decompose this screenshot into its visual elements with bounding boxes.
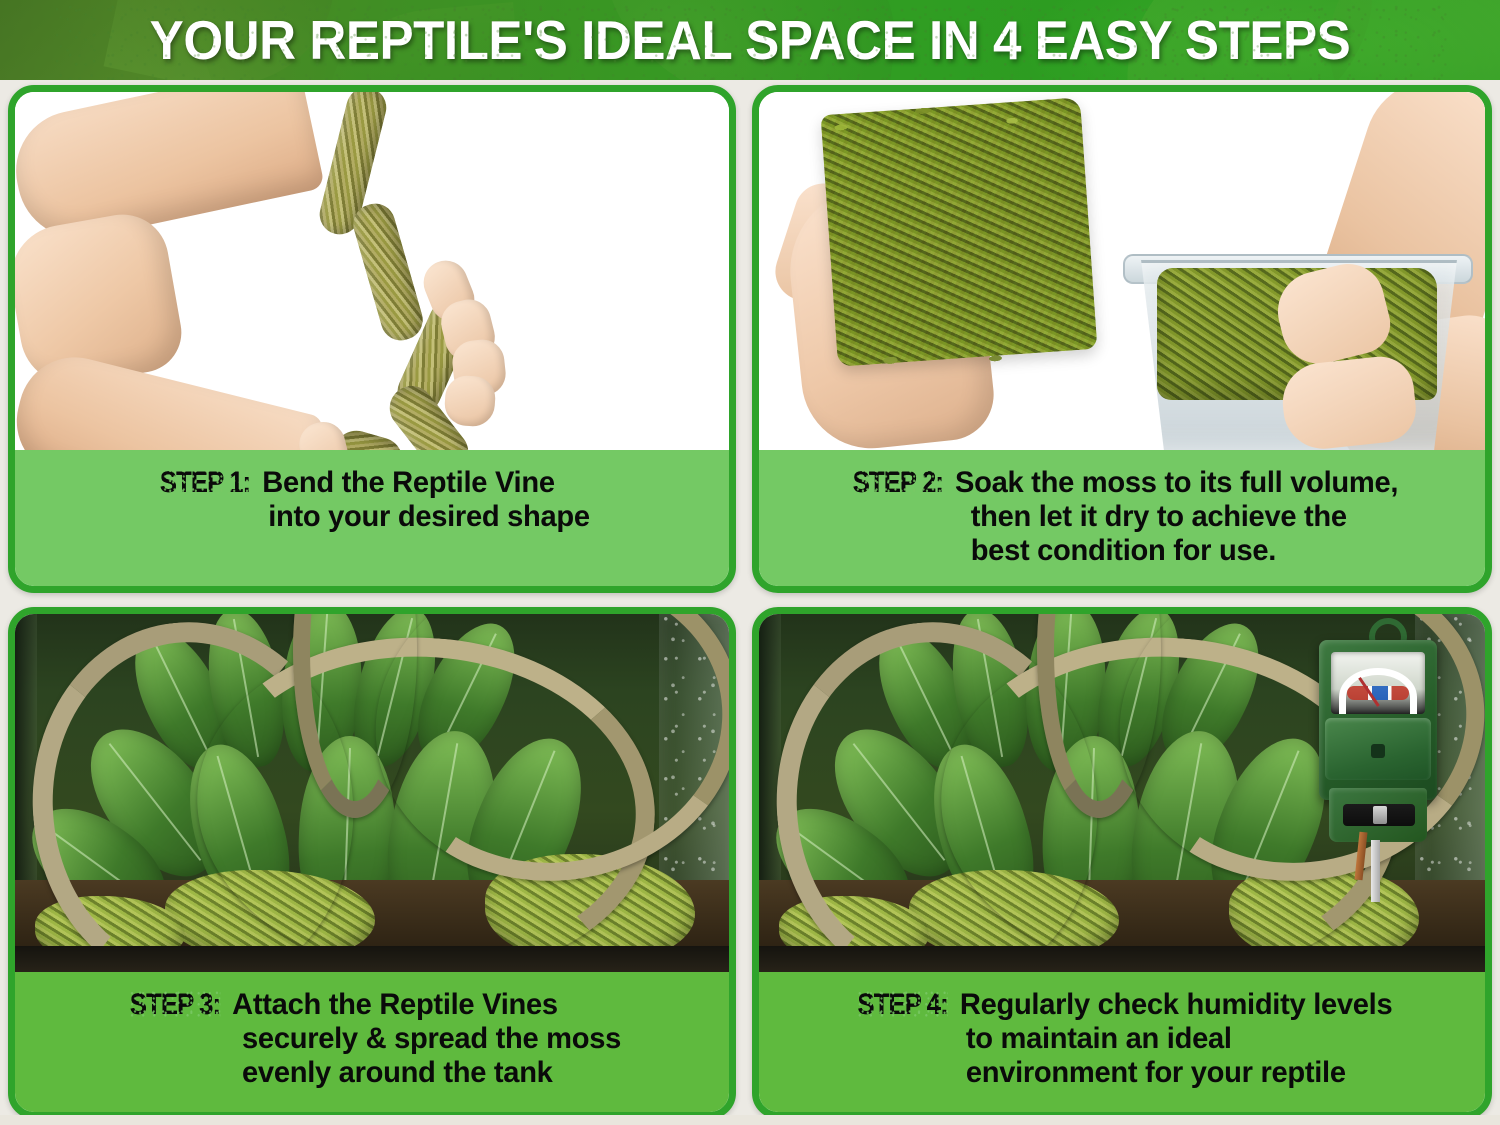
dry-moss-slab xyxy=(821,97,1098,367)
meter-probe xyxy=(1371,840,1380,902)
reptile-vine xyxy=(349,199,428,345)
step-4-image xyxy=(759,614,1485,972)
step-1-caption: STEP 1:Bend the Reptile Vine into your d… xyxy=(15,450,729,593)
step-2-line-2: then let it dry to achieve the xyxy=(970,500,1346,533)
step-1-line-1: Bend the Reptile Vine xyxy=(262,466,555,499)
meter-lid-notch xyxy=(1371,744,1385,758)
step-3-line-3: evenly around the tank xyxy=(242,1056,553,1089)
step-4-label: STEP 4: xyxy=(858,988,948,1022)
arm xyxy=(15,345,325,450)
step-2-line-3: best condition for use. xyxy=(970,534,1275,567)
step-4-line-2: to maintain an ideal xyxy=(966,1022,1232,1055)
step-1-image xyxy=(15,92,729,450)
step-3-caption: STEP 3:Attach the Reptile Vines securely… xyxy=(15,972,729,1119)
terrarium-scene xyxy=(15,614,729,972)
finger xyxy=(443,374,496,427)
meter-dial-gauge xyxy=(1331,652,1425,714)
step-panel-1: STEP 1:Bend the Reptile Vine into your d… xyxy=(8,85,736,593)
step-3-line-2: securely & spread the moss xyxy=(242,1022,621,1055)
tank-rim xyxy=(759,946,1485,972)
step-2-line-1: Soak the moss to its full volume, xyxy=(955,466,1398,499)
step-2-image xyxy=(759,92,1485,450)
dial-color-band xyxy=(1347,686,1409,700)
terrarium-scene xyxy=(759,614,1485,972)
step-4-line-3: environment for your reptile xyxy=(966,1056,1346,1089)
step-4-line-1: Regularly check humidity levels xyxy=(960,988,1393,1021)
step-3-line-1: Attach the Reptile Vines xyxy=(232,988,558,1021)
steps-grid: STEP 1:Bend the Reptile Vine into your d… xyxy=(0,80,1500,1125)
page-title: YOUR REPTILE'S IDEAL SPACE IN 4 EASY STE… xyxy=(53,0,1448,80)
step-4-caption: STEP 4:Regularly check humidity levels t… xyxy=(759,972,1485,1119)
step-3-label: STEP 3: xyxy=(129,988,219,1022)
step-panel-2: STEP 2:Soak the moss to its full volume,… xyxy=(752,85,1492,593)
step-1-label: STEP 1: xyxy=(160,466,250,500)
step-2-caption: STEP 2:Soak the moss to its full volume,… xyxy=(759,450,1485,593)
infographic-poster: YOUR REPTILE'S IDEAL SPACE IN 4 EASY STE… xyxy=(0,0,1500,1125)
tank-rim xyxy=(15,946,729,972)
step-panel-4: STEP 4:Regularly check humidity levels t… xyxy=(752,607,1492,1119)
step-panel-3: STEP 3:Attach the Reptile Vines securely… xyxy=(8,607,736,1119)
step-3-image xyxy=(15,614,729,972)
step-1-line-2: into your desired shape xyxy=(268,500,590,533)
header-banner: YOUR REPTILE'S IDEAL SPACE IN 4 EASY STE… xyxy=(0,0,1500,80)
bottom-edge-strip xyxy=(0,1115,1500,1125)
meter-switch-knob[interactable] xyxy=(1373,806,1387,824)
step-2-label: STEP 2: xyxy=(852,466,942,500)
humidity-meter xyxy=(1319,618,1441,848)
